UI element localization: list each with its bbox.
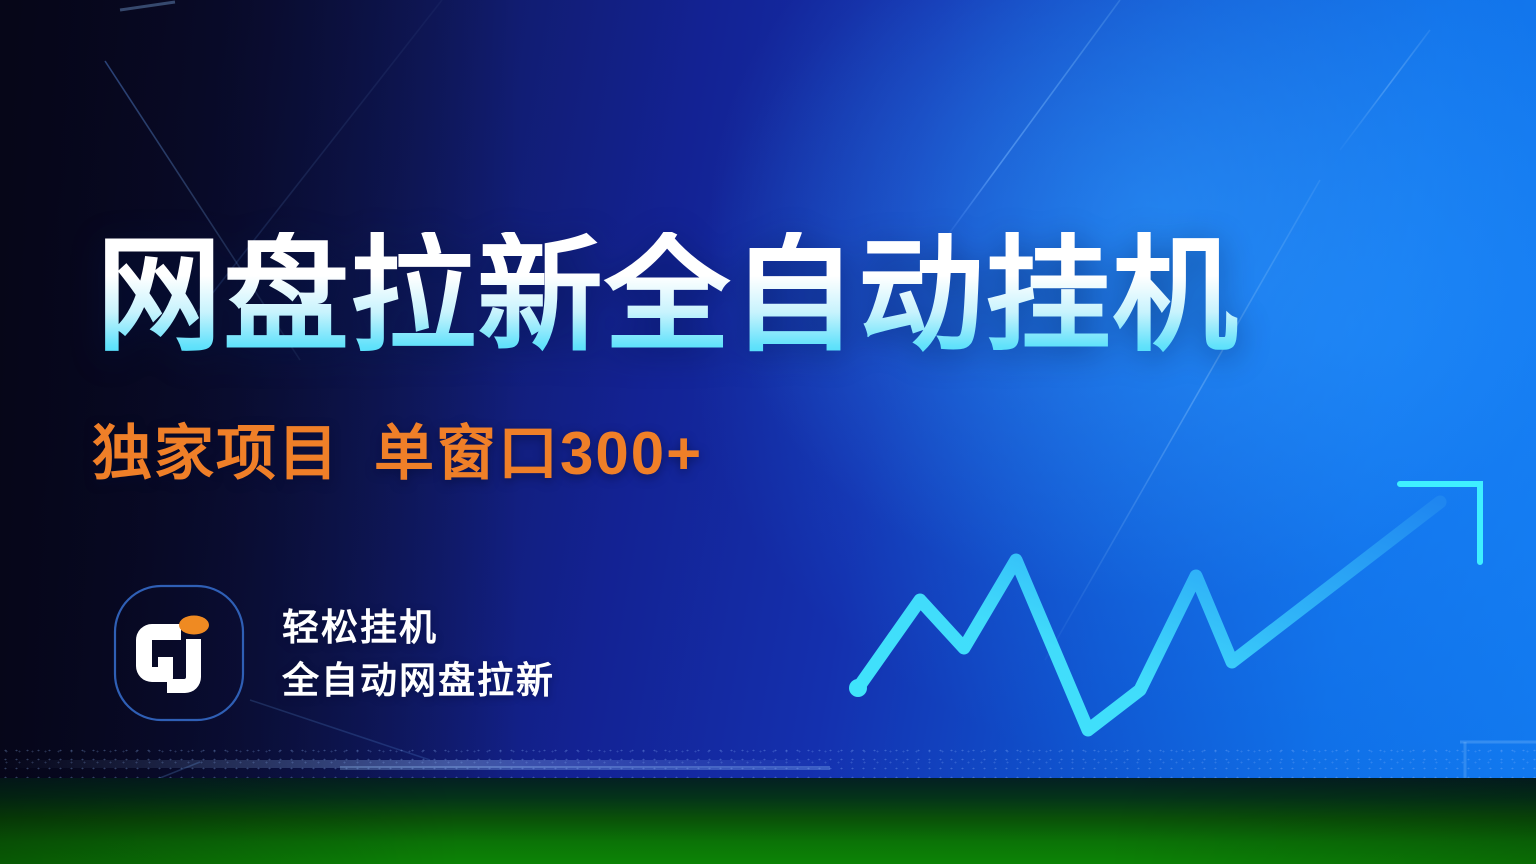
growth-chart-svg — [840, 440, 1536, 770]
chart-ticks — [862, 616, 1360, 740]
subtitle: 独家项目单窗口300+ — [92, 424, 703, 484]
gj-monogram-icon — [112, 583, 246, 723]
logo-icon — [112, 583, 246, 723]
bottom-green-strip — [0, 778, 1536, 864]
tagline: 轻松挂机 全自动网盘拉新 — [282, 602, 555, 705]
subtitle-left: 独家项目 — [92, 420, 340, 487]
page-title: 网盘拉新全自动挂机 — [96, 232, 1239, 361]
promo-banner: 网盘拉新全自动挂机 独家项目单窗口300+ 轻松挂机 全自动网盘拉新 — [0, 0, 1536, 864]
logo-frame — [115, 586, 243, 720]
brand-block: 轻松挂机 全自动网盘拉新 — [112, 583, 555, 723]
tagline-line-1: 轻松挂机 — [282, 604, 555, 651]
logo-letter-g — [136, 624, 181, 682]
chart-line — [858, 502, 1440, 730]
growth-chart — [840, 440, 1536, 770]
chart-start-dot — [849, 679, 867, 697]
logo-dot-icon — [179, 616, 209, 635]
subtitle-right: 单窗口300+ — [374, 420, 703, 487]
tagline-line-2: 全自动网盘拉新 — [282, 657, 555, 704]
